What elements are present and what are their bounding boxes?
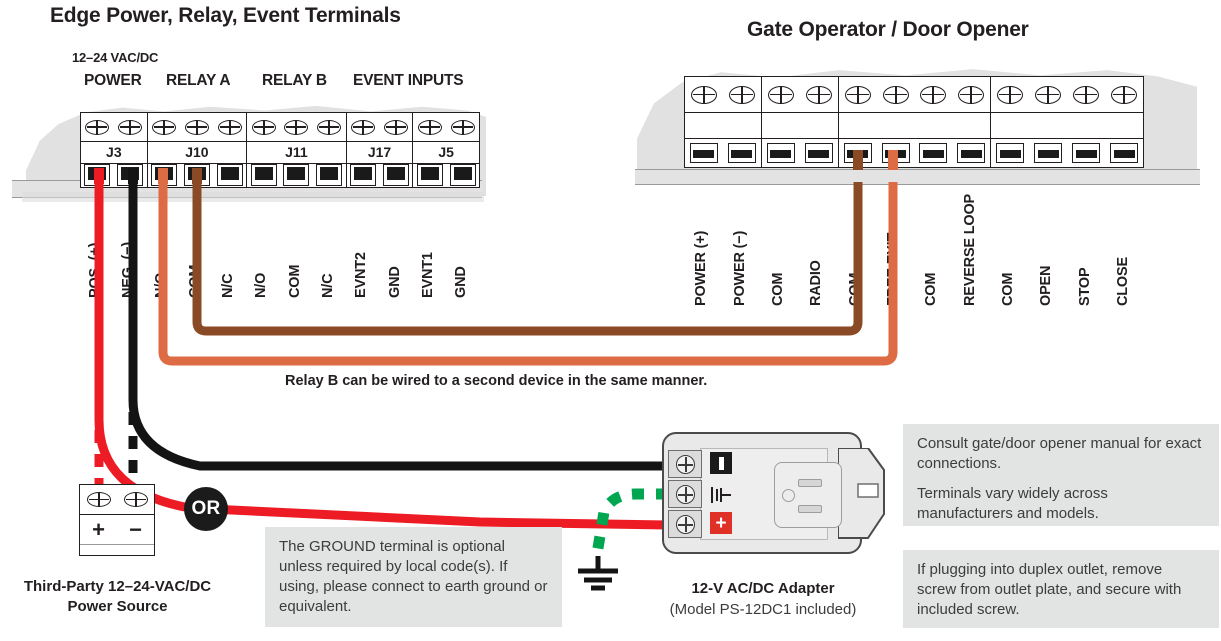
gate-connector-group-2 bbox=[762, 77, 839, 167]
earth-ground-icon bbox=[570, 556, 626, 596]
gate-pin-label-com: COM bbox=[770, 273, 786, 306]
terminal-pad-row bbox=[413, 164, 479, 187]
group-label-relay-a: RELAY A bbox=[166, 72, 230, 90]
gate-board-rail bbox=[635, 169, 1200, 185]
edge-pin-label-n-o: N/O bbox=[253, 273, 269, 298]
group-label-relay-b: RELAY B bbox=[262, 72, 327, 90]
terminal-screw-icon bbox=[118, 120, 142, 135]
screw-row bbox=[148, 113, 247, 142]
terminal-screw-icon bbox=[185, 120, 209, 135]
terminal-pad bbox=[690, 143, 718, 163]
adapter-negative-badge-icon bbox=[710, 452, 732, 474]
terminal-screw-icon bbox=[85, 120, 109, 135]
screw-row bbox=[991, 77, 1143, 113]
terminal-pad-row bbox=[991, 139, 1143, 167]
gate-pin-label-radio: RADIO bbox=[808, 260, 824, 306]
wire-stub-com bbox=[192, 168, 202, 184]
terminal-screw-icon bbox=[351, 120, 375, 135]
terminal-pad bbox=[1072, 143, 1100, 163]
terminal-screw-icon bbox=[883, 86, 909, 104]
terminal-pad bbox=[383, 164, 409, 186]
terminal-pad bbox=[1110, 143, 1138, 163]
edge-pin-label-evnt2: EVNT2 bbox=[353, 252, 369, 298]
connector-name-row: J11 bbox=[247, 142, 346, 163]
gate-connector-blank-row bbox=[839, 113, 991, 139]
terminal-screw-icon bbox=[451, 120, 475, 135]
terminal-screw-icon bbox=[384, 120, 408, 135]
terminal-pad bbox=[217, 164, 243, 186]
wire-stub-gate-com bbox=[853, 150, 863, 170]
connector-name: J5 bbox=[438, 144, 454, 160]
screw-row bbox=[762, 77, 838, 113]
tick-orange bbox=[159, 272, 167, 284]
connector-name-row: J10 bbox=[148, 142, 247, 163]
connector-name: J10 bbox=[185, 144, 208, 160]
terminal-pad bbox=[728, 143, 756, 163]
group-label-power: POWER bbox=[84, 72, 142, 90]
terminal-pad bbox=[919, 143, 947, 163]
relay-b-note: Relay B can be wired to a second device … bbox=[285, 373, 707, 389]
terminal-screw-icon bbox=[845, 86, 871, 104]
wire-stub-pos bbox=[94, 168, 104, 184]
voltage-label: 12–24 VAC/DC bbox=[72, 50, 158, 65]
connector-name: J17 bbox=[368, 144, 391, 160]
screw-row bbox=[81, 113, 147, 142]
ground-note: The GROUND terminal is optional unless r… bbox=[265, 527, 562, 627]
gate-connector-group-4 bbox=[991, 77, 1143, 167]
gate-connector-group-1 bbox=[685, 77, 762, 167]
connector-name-row: J3 bbox=[81, 142, 147, 163]
terminal-pad bbox=[957, 143, 985, 163]
gate-pin-label-reverse-loop: REVERSE LOOP bbox=[962, 194, 978, 306]
terminal-pad-row bbox=[762, 139, 838, 167]
adapter-ground-badge-icon bbox=[707, 484, 735, 506]
screw-row bbox=[839, 77, 991, 113]
terminal-pad bbox=[283, 164, 309, 186]
wire-stub-neg bbox=[128, 168, 138, 184]
terminal-screw-icon bbox=[152, 120, 176, 135]
note-consult-manual: Consult gate/door opener manual for exac… bbox=[903, 424, 1219, 526]
terminal-pad bbox=[316, 164, 342, 186]
note-consult-manual-line2: Terminals vary widely across manufacture… bbox=[917, 484, 1205, 524]
edge-board-backdrop-lower bbox=[22, 192, 484, 202]
screw-row bbox=[247, 113, 346, 142]
terminal-pad bbox=[996, 143, 1024, 163]
terminal-pad bbox=[251, 164, 277, 186]
gate-pin-label-close: CLOSE bbox=[1115, 257, 1131, 306]
terminal-screw-icon bbox=[958, 86, 984, 104]
edge-pin-label-n-c: N/C bbox=[320, 274, 336, 298]
source-caption-line2: Power Source bbox=[10, 598, 225, 615]
wiring-diagram: Edge Power, Relay, Event Terminals Gate … bbox=[0, 0, 1221, 641]
tick-gate-orange bbox=[889, 292, 897, 306]
wire-green-ground bbox=[596, 494, 668, 560]
gate-pin-label-com: COM bbox=[1000, 273, 1016, 306]
terminal-pad-row bbox=[347, 164, 413, 187]
third-party-source-block: + − bbox=[79, 484, 155, 556]
terminal-screw-icon bbox=[768, 86, 794, 104]
connector-name: J3 bbox=[106, 144, 122, 160]
adapter-screw-positive-icon bbox=[676, 515, 695, 534]
terminal-screw-icon bbox=[252, 120, 276, 135]
edge-connector-j5: J5 bbox=[413, 113, 479, 187]
right-section-title: Gate Operator / Door Opener bbox=[747, 18, 1029, 42]
edge-pin-label-n-c: N/C bbox=[220, 274, 236, 298]
gate-pin-label-stop: STOP bbox=[1077, 268, 1093, 306]
gate-pin-label-com: COM bbox=[923, 273, 939, 306]
terminal-screw-icon bbox=[806, 86, 832, 104]
adapter-caption-line1: 12-V AC/DC Adapter bbox=[620, 580, 906, 597]
edge-connector-j17: J17 bbox=[347, 113, 414, 187]
edge-connector-j11: J11 bbox=[247, 113, 347, 187]
terminal-screw-icon bbox=[920, 86, 946, 104]
gate-pin-label-open: OPEN bbox=[1038, 266, 1054, 306]
edge-pin-label-gnd: GND bbox=[453, 266, 469, 298]
terminal-pad bbox=[417, 164, 443, 186]
source-caption-line1: Third-Party 12–24-VAC/DC bbox=[10, 578, 225, 595]
source-plus-label: + bbox=[92, 517, 105, 543]
wire-orange-no-to-free-exit bbox=[163, 180, 893, 361]
terminal-pad-row bbox=[247, 164, 346, 187]
edge-pin-label-neg: NEG. (−) bbox=[120, 242, 136, 298]
adapter-caption-line2: (Model PS-12DC1 included) bbox=[620, 601, 906, 618]
terminal-screw-icon bbox=[997, 86, 1023, 104]
terminal-screw-icon bbox=[691, 86, 717, 104]
terminal-pad bbox=[350, 164, 376, 186]
source-screw-minus-icon bbox=[124, 492, 148, 507]
terminal-pad bbox=[767, 143, 795, 163]
adapter-outlet-screw-hole-icon bbox=[782, 489, 795, 502]
adapter-screw-negative-icon bbox=[676, 455, 695, 474]
wire-stub-no bbox=[158, 168, 168, 184]
terminal-pad-row bbox=[685, 139, 761, 167]
gate-pin-label-power: POWER (−) bbox=[732, 231, 748, 306]
group-label-event-inputs: EVENT INPUTS bbox=[353, 72, 463, 90]
screw-row bbox=[413, 113, 479, 142]
terminal-pad bbox=[1034, 143, 1062, 163]
terminal-pad bbox=[450, 164, 476, 186]
screw-row bbox=[685, 77, 761, 113]
note-consult-manual-line1: Consult gate/door opener manual for exac… bbox=[917, 434, 1205, 474]
wire-black-neg-to-adapter bbox=[133, 180, 668, 466]
source-sign-row: + − bbox=[80, 515, 154, 545]
adapter-positive-badge-icon: + bbox=[710, 512, 732, 534]
source-screw-plus-icon bbox=[87, 492, 111, 507]
adapter-outlet-slot-bottom bbox=[798, 505, 822, 513]
terminal-screw-icon bbox=[218, 120, 242, 135]
tick-brown bbox=[193, 272, 201, 284]
wire-red-pos-to-adapter bbox=[99, 180, 668, 525]
terminal-screw-icon bbox=[1111, 86, 1137, 104]
wire-brown-com-to-com bbox=[197, 180, 858, 331]
terminal-screw-icon bbox=[1073, 86, 1099, 104]
connector-name: J11 bbox=[285, 144, 308, 160]
terminal-screw-icon bbox=[317, 120, 341, 135]
source-screw-row bbox=[80, 485, 154, 515]
gate-connector-blank-row bbox=[762, 113, 838, 139]
edge-pin-label-evnt1: EVNT1 bbox=[420, 252, 436, 298]
screw-row bbox=[347, 113, 413, 142]
gate-connector-blank-row bbox=[991, 113, 1143, 139]
wire-stub-gate-free-exit bbox=[888, 150, 898, 170]
adapter-plug-flange bbox=[838, 448, 886, 540]
edge-pin-label-com: COM bbox=[287, 265, 303, 298]
source-minus-label: − bbox=[129, 517, 142, 543]
gate-terminal-block bbox=[684, 76, 1144, 168]
terminal-screw-icon bbox=[418, 120, 442, 135]
edge-pin-label-gnd: GND bbox=[387, 266, 403, 298]
edge-pin-label-pos: POS. (+) bbox=[87, 243, 103, 298]
note-duplex-outlet: If plugging into duplex outlet, remove s… bbox=[903, 550, 1219, 628]
terminal-screw-icon bbox=[284, 120, 308, 135]
adapter-outlet-slot-top bbox=[798, 479, 822, 487]
terminal-screw-icon bbox=[729, 86, 755, 104]
terminal-pad bbox=[805, 143, 833, 163]
left-section-title: Edge Power, Relay, Event Terminals bbox=[50, 4, 401, 28]
adapter-screw-ground-icon bbox=[676, 485, 695, 504]
edge-terminal-block: J3J10J11J17J5 bbox=[80, 112, 480, 188]
tick-gate-brown bbox=[854, 292, 862, 306]
or-badge: OR bbox=[184, 487, 228, 531]
gate-connector-blank-row bbox=[685, 113, 761, 139]
terminal-screw-icon bbox=[1035, 86, 1061, 104]
connector-name-row: J5 bbox=[413, 142, 479, 163]
gate-pin-label-power: POWER (+) bbox=[693, 231, 709, 306]
source-body bbox=[80, 545, 154, 581]
connector-name-row: J17 bbox=[347, 142, 413, 163]
